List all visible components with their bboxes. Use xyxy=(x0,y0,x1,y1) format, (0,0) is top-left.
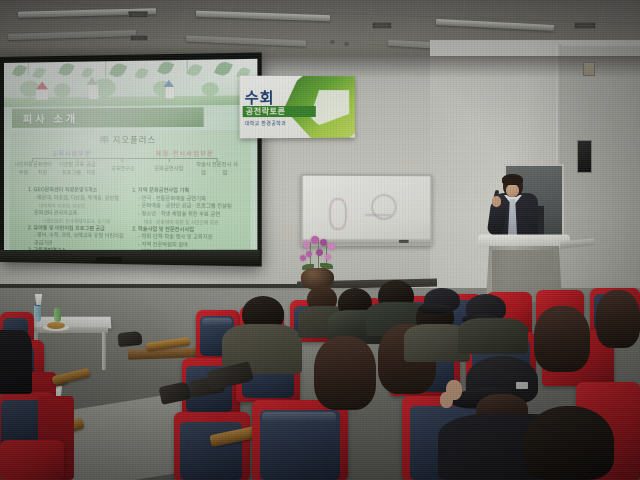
projected-slide: 피사 소개 ㈜ 지오플러스 교육사업부문 체험·전시사업부문 시민자활 부설문화… xyxy=(4,59,257,260)
podium-top xyxy=(478,235,571,248)
banner-line-1: 수회 xyxy=(245,87,275,108)
org-box-5: 학술사업전문전시 사업 xyxy=(195,161,238,178)
audience-hand-2 xyxy=(440,392,453,408)
leaf-7 xyxy=(157,59,174,76)
slide-hero-illustration xyxy=(4,59,257,107)
whiteboard-marker xyxy=(399,240,409,243)
screen-bottom-bar xyxy=(0,250,260,263)
water-bottle xyxy=(34,305,41,322)
illustration-roof-2 xyxy=(87,77,97,85)
slide-bullet: 대덕체육·정왕점, 화성점 xyxy=(28,202,126,210)
illustration-house-1 xyxy=(36,88,48,99)
orchid-bloom-3 xyxy=(320,239,327,246)
ceiling-vent-3 xyxy=(372,22,392,29)
illustration-roof-3 xyxy=(164,80,175,87)
orchid-bloom-1 xyxy=(303,241,310,248)
leaf-9 xyxy=(214,59,233,78)
whiteboard xyxy=(301,174,433,247)
snack-item xyxy=(47,322,65,329)
presenter-hand xyxy=(492,196,501,207)
far-right-wall xyxy=(561,46,640,296)
wall-speaker xyxy=(577,140,592,173)
illustration-bush-2 xyxy=(54,83,70,97)
slide-bullet: 1. 지역 문화공연사업 기획 xyxy=(132,188,240,196)
ceiling-vent-4 xyxy=(574,22,596,29)
slide-bullets-right: 1. 지역 문화공연사업 기획- 연극 · 전통문화예술 공연기획- 문화예술 … xyxy=(132,188,240,259)
presenter-hair xyxy=(502,174,523,185)
orchid-bloom-6 xyxy=(316,249,323,256)
org-column-header-education: 교육사업부문 xyxy=(28,149,116,158)
green-bottle xyxy=(54,308,61,322)
orchid-bloom-4 xyxy=(328,243,335,250)
wall-banner: 수회 공전락토른 대학교 환경공학과 xyxy=(240,76,355,139)
ceiling-vent-2 xyxy=(130,35,148,41)
orchid-bloom-8 xyxy=(300,255,306,261)
side-table-apron xyxy=(30,327,108,333)
seat-highlight xyxy=(202,318,232,326)
illustration-house-3 xyxy=(166,86,174,98)
banner-line-3: 대학교 환경공학과 xyxy=(245,120,286,127)
leaf-stem-2 xyxy=(105,61,106,77)
presenter-face xyxy=(506,184,519,197)
seat-highlight xyxy=(262,412,336,422)
audience-head-long-hair-1 xyxy=(314,336,376,410)
slide-title-text: 피사 소개 xyxy=(12,110,78,126)
leaf-5 xyxy=(109,61,127,79)
cap-logo xyxy=(516,382,528,389)
leaf-stem-1 xyxy=(28,63,29,75)
org-box-4: 문화공연사업 xyxy=(149,161,189,178)
org-box-3: 교육연구소 xyxy=(103,161,142,177)
org-connector-horizontal xyxy=(32,158,217,159)
orchid-bloom-2 xyxy=(311,236,319,244)
slide-bullet: 1. GEO문화센터 직영운영 5개소 xyxy=(28,187,126,195)
slide-bullet: - 영어, 수학, 과학, 상해교육 유형 어린이집 공급기관 xyxy=(28,232,126,249)
projection-screen: 피사 소개 ㈜ 지오플러스 교육사업부문 체험·전시사업부문 시민자활 부설문화… xyxy=(0,52,262,266)
side-table-leg-right xyxy=(102,332,106,370)
banner-line-2: 공전락토른 xyxy=(243,106,316,117)
lecture-hall-photo: 피사 소개 ㈜ 지오플러스 교육사업부문 체험·전시사업부문 시민자활 부설문화… xyxy=(0,0,640,480)
whiteboard-mark-3 xyxy=(365,214,391,230)
audience-foot-lower xyxy=(117,331,142,347)
leaf-2 xyxy=(32,66,46,80)
illustration-roof-1 xyxy=(36,81,48,89)
org-column-header-exhibition: 체험·전시사업부문 xyxy=(130,149,240,158)
org-box-2: 기관별 교육프로그램공급 지원 xyxy=(58,161,97,177)
org-box-1: 시민자활 부설문화센터 지원 xyxy=(14,161,52,177)
slide-content-area: ㈜ 지오플러스 교육사업부문 체험·전시사업부문 시민자활 부설문화센터 지원 … xyxy=(10,130,251,256)
ceiling-fixture-dot-2 xyxy=(344,42,349,46)
audience-cap-brim-1 xyxy=(418,304,452,314)
audience-head-long-hair-3 xyxy=(534,306,590,372)
leaf-1 xyxy=(12,63,27,79)
orchid-bloom-7 xyxy=(325,254,331,260)
leaf-3 xyxy=(58,61,75,78)
illustration-house-2 xyxy=(89,84,98,99)
leaf-8 xyxy=(187,62,203,78)
audience-head-long-hair-4 xyxy=(596,290,640,348)
illustration-bush-5 xyxy=(202,82,219,96)
ceiling-vent-1 xyxy=(128,11,148,18)
seat-back xyxy=(0,440,64,480)
wall-junction-box xyxy=(583,62,595,76)
orchid-bloom-5 xyxy=(306,251,312,257)
slide-bullet: - 문화예술 · 공연단 공급 · 프로그램 컨설팅 xyxy=(132,203,240,212)
screen-roller-handle xyxy=(96,257,122,263)
audience-shoulders-bottom-left xyxy=(0,330,32,394)
slide-subtitle: ㈜ 지오플러스 xyxy=(10,134,251,146)
audience-shoulders-6 xyxy=(458,318,528,354)
ceiling-fixture-dot-1 xyxy=(330,40,335,44)
slide-title-bar: 피사 소개 xyxy=(12,107,204,128)
whiteboard-mark-1 xyxy=(329,198,347,230)
audience-head-bottom-right xyxy=(524,406,614,480)
leaf-6 xyxy=(134,66,148,80)
